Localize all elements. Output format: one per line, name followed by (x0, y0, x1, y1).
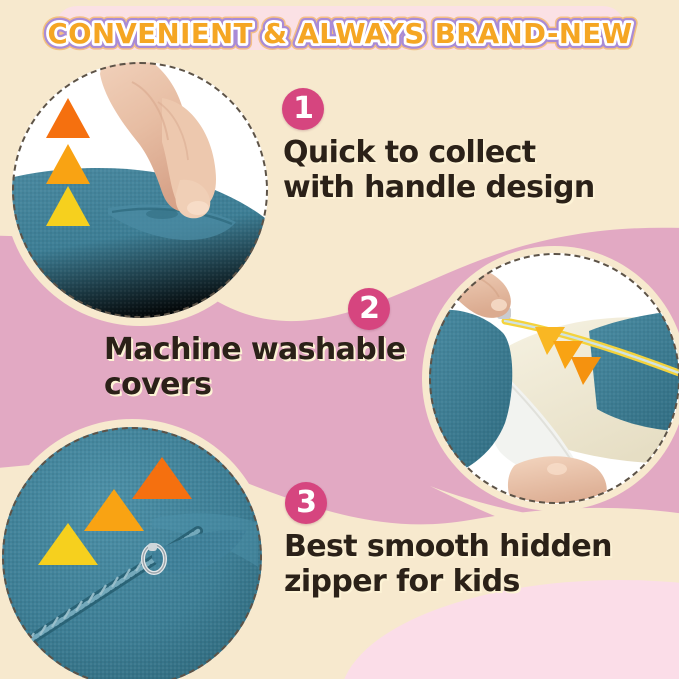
infographic-canvas: CONVENIENT & ALWAYS BRAND-NEW CONVENIENT… (0, 0, 679, 679)
unzipping-cover-photo (429, 253, 679, 504)
step-badge-2: 2 (348, 288, 390, 330)
step-label-2: Machine washable covers (104, 333, 434, 403)
step-label-1: Quick to collect with handle design (283, 136, 613, 206)
arrow-down-right-icon (571, 357, 601, 385)
step-badge-1: 1 (282, 88, 324, 130)
title-banner: CONVENIENT & ALWAYS BRAND-NEW CONVENIENT… (0, 6, 679, 58)
photo-2-arrows (429, 253, 679, 504)
arrow-up-icon (46, 186, 90, 226)
hand-lifting-handle-photo (12, 62, 268, 318)
arrow-up-icon (46, 144, 90, 184)
step-label-3: Best smooth hidden zipper for kids (284, 530, 624, 600)
arrow-up-icon (46, 98, 90, 138)
arrow-up-right-icon (132, 457, 192, 499)
title-fill-text: CONVENIENT & ALWAYS BRAND-NEW (47, 18, 632, 50)
photo-1-arrows (12, 62, 268, 318)
photo-3-arrows (2, 427, 262, 679)
step-badge-3: 3 (285, 482, 327, 524)
hidden-zipper-photo (2, 427, 262, 679)
title-text-svg: CONVENIENT & ALWAYS BRAND-NEW CONVENIENT… (20, 6, 660, 58)
